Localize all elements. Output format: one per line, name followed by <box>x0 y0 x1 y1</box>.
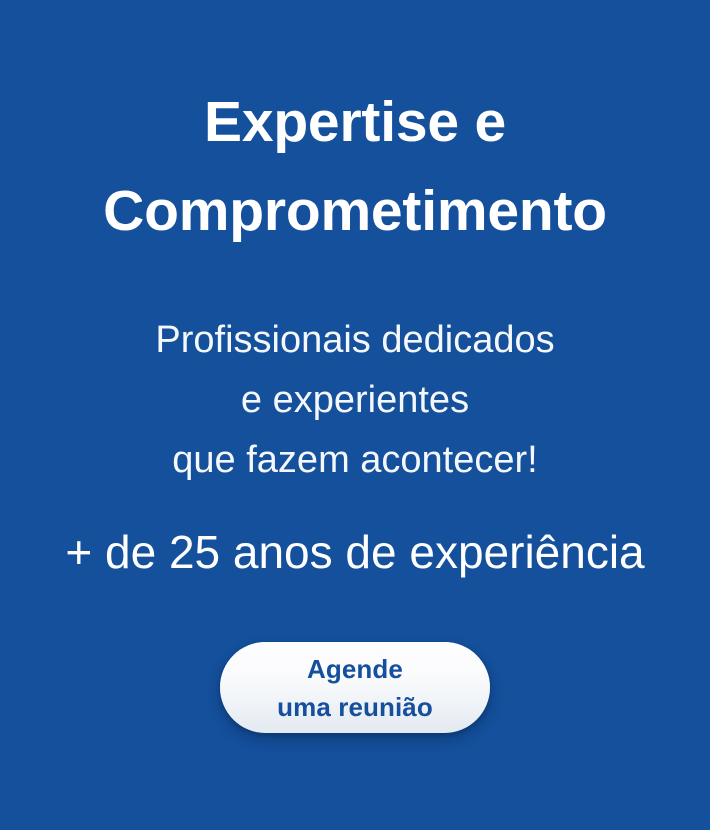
subtitle-line-2: e experientes <box>0 370 710 430</box>
expertise-promo-panel: Expertise e Comprometimento Profissionai… <box>0 0 710 830</box>
page-title-line-2: Comprometimento <box>0 167 710 256</box>
page-title-line-1: Expertise e <box>0 78 710 167</box>
experience-highlight: + de 25 anos de experiência <box>0 490 710 580</box>
schedule-meeting-button-line-1: Agende <box>307 650 403 688</box>
page-title: Expertise e Comprometimento <box>0 0 710 256</box>
subtitle-line-3: que fazem acontecer! <box>0 430 710 490</box>
subtitle-paragraph: Profissionais dedicados e experientes qu… <box>0 256 710 490</box>
subtitle-line-1: Profissionais dedicados <box>0 310 710 370</box>
schedule-meeting-button[interactable]: Agende uma reunião <box>220 642 490 733</box>
cta-container: Agende uma reunião <box>0 580 710 733</box>
schedule-meeting-button-line-2: uma reunião <box>277 688 433 726</box>
